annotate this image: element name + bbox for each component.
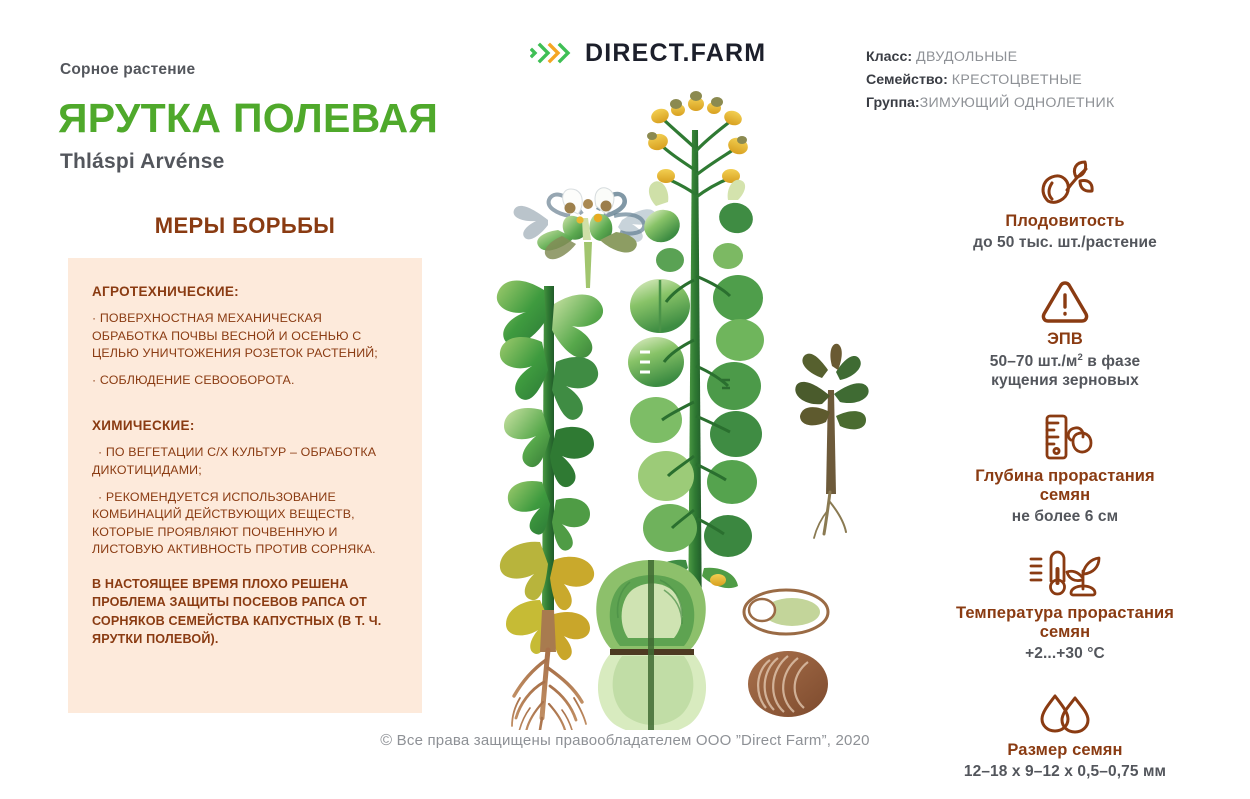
- fact-fecundity: Плодовитость до 50 тыс. шт./растение: [900, 155, 1230, 253]
- chemical-heading: ХИМИЧЕСКИЕ:: [92, 418, 400, 433]
- family-label: Семейство:: [866, 72, 948, 88]
- control-measures-panel: АГРОТЕХНИЧЕСКИЕ: · ПОВЕРХНОСТНАЯ МЕХАНИЧ…: [68, 258, 422, 713]
- flowering-stem-with-pods: [628, 91, 764, 630]
- fact-germination-temperature: Температура прорастания семян +2...+30 °…: [900, 547, 1230, 664]
- chemical-item: · ПО ВЕГЕТАЦИИ С/Х КУЛЬТУР – ОБРАБОТКА Д…: [92, 444, 400, 479]
- fact-value: +2...+30 °C: [900, 645, 1230, 664]
- fact-germination-depth: Глубина прорастания семян не более 6 см: [900, 410, 1230, 527]
- family-value: КРЕСТОЦВЕТНЫЕ: [952, 72, 1082, 88]
- seedling: [795, 344, 868, 538]
- fact-value-line1: 50–70 шт./м2 в фазе: [990, 353, 1140, 370]
- agrotechnical-item: · СОБЛЮДЕНИЕ СЕВООБОРОТА.: [92, 372, 400, 390]
- fact-title: ЭПВ: [900, 330, 1230, 349]
- classification-block: Класс: ДВУДОЛЬНЫЕ Семейство: КРЕСТОЦВЕТН…: [866, 46, 1115, 115]
- thermometer-sprout-icon: [900, 547, 1230, 599]
- logo-wordmark: DIRECT.FARM: [585, 41, 766, 66]
- page-title: ЯРУТКА ПОЛЕВАЯ: [58, 98, 438, 139]
- thlaspi-arvense-drawing: [470, 90, 890, 730]
- fact-title: Температура прорастания семян: [900, 604, 1230, 642]
- class-value: ДВУДОЛЬНЫЕ: [916, 49, 1017, 65]
- fact-title-line2: семян: [1040, 623, 1090, 641]
- direct-farm-chevron-icon: [530, 38, 572, 68]
- classification-row-class: Класс: ДВУДОЛЬНЫЕ: [866, 46, 1115, 69]
- fact-value: не более 6 см: [900, 508, 1230, 527]
- fact-title: Плодовитость: [900, 212, 1230, 231]
- fact-title-line1: Температура прорастания: [956, 604, 1174, 622]
- infographic-page: DIRECT.FARM Сорное растение ЯРУТКА ПОЛЕВ…: [0, 0, 1250, 773]
- copyright-text: Все права защищены правообладателем ООО …: [397, 732, 870, 749]
- chemical-item: · РЕКОМЕНДУЕТСЯ ИСПОЛЬЗОВАНИЕ КОМБИНАЦИЙ…: [92, 489, 400, 559]
- fact-value: 50–70 шт./м2 в фазе кущения зерновых: [900, 352, 1230, 390]
- copyright-icon: ©: [380, 732, 392, 749]
- warning-triangle-icon: [900, 273, 1230, 325]
- seed-detail: [744, 590, 828, 717]
- fact-value-line2: кущения зерновых: [991, 372, 1139, 389]
- sprouting-seed-icon: [900, 155, 1230, 207]
- fact-title: Глубина прорастания семян: [900, 467, 1230, 505]
- copyright-footer: © Все права защищены правообладателем ОО…: [0, 732, 1250, 750]
- flower-closeup: [514, 188, 657, 288]
- seed-drops-icon: [900, 684, 1230, 736]
- classification-row-family: Семейство: КРЕСТОЦВЕТНЫЕ: [866, 69, 1115, 92]
- class-label: Класс:: [866, 49, 912, 65]
- measures-heading: МЕРЫ БОРЬБЫ: [68, 213, 422, 239]
- classification-row-group: Группа:ЗИМУЮЩИЙ ОДНОЛЕТНИК: [866, 92, 1115, 115]
- fact-value: до 50 тыс. шт./растение: [900, 234, 1230, 253]
- fact-title-line1: Глубина прорастания: [975, 467, 1154, 485]
- pod-cross-section: [596, 560, 706, 730]
- group-value: ЗИМУЮЩИЙ ОДНОЛЕТНИК: [920, 95, 1115, 111]
- facts-column: Плодовитость до 50 тыс. шт./растение ЭПВ…: [900, 155, 1230, 799]
- plant-illustration: [470, 90, 890, 730]
- measures-note: В НАСТОЯЩЕЕ ВРЕМЯ ПЛОХО РЕШЕНА ПРОБЛЕМА …: [92, 575, 400, 649]
- rosette-plant-with-roots: [497, 280, 603, 730]
- fact-value: 12–18 х 9–12 х 0,5–0,75 мм: [900, 763, 1230, 782]
- latin-name: Thláspi Arvénse: [60, 150, 224, 174]
- agrotechnical-item: · ПОВЕРХНОСТНАЯ МЕХАНИЧЕСКАЯ ОБРАБОТКА П…: [92, 310, 400, 363]
- agrotechnical-heading: АГРОТЕХНИЧЕСКИЕ:: [92, 284, 400, 299]
- brand-logo[interactable]: DIRECT.FARM: [530, 38, 766, 68]
- fact-epv: ЭПВ 50–70 шт./м2 в фазе кущения зерновых: [900, 273, 1230, 390]
- fact-title-line2: семян: [1040, 486, 1090, 504]
- kicker-label: Сорное растение: [60, 61, 195, 79]
- ruler-seeds-icon: [900, 410, 1230, 462]
